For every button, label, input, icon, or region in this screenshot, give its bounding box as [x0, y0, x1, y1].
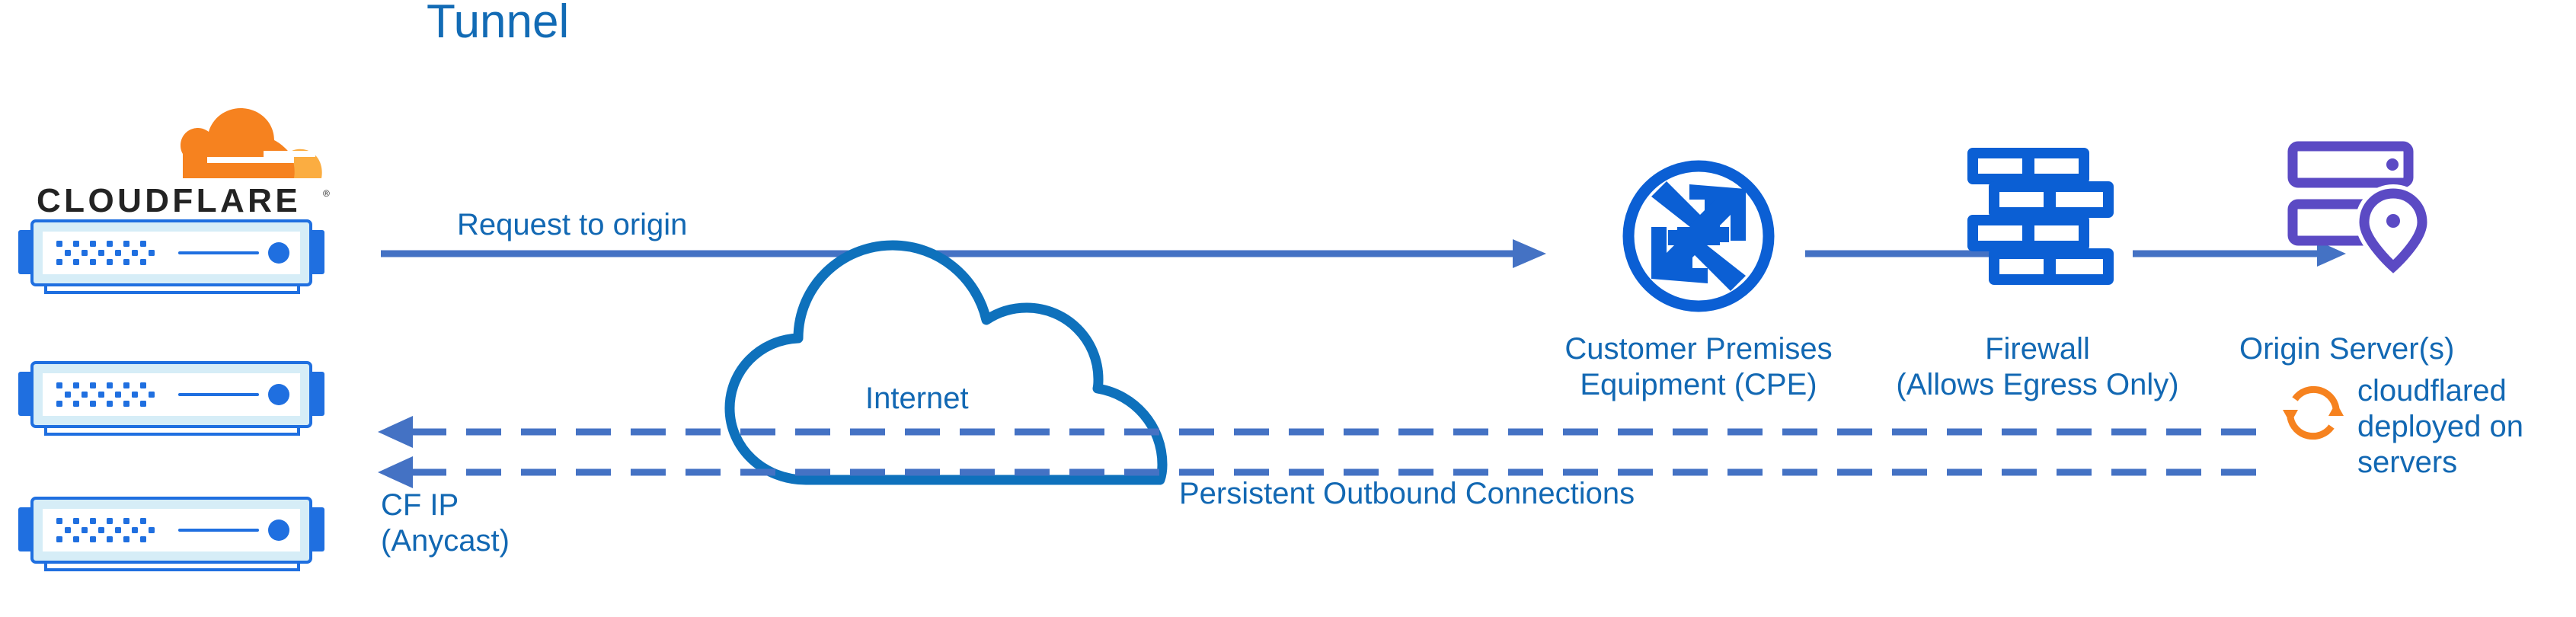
cloudflare-cloud-icon: [180, 105, 323, 181]
cloudflared-label: cloudflared deployed on servers: [2357, 373, 2576, 481]
origin-server-label: Origin Server(s): [2239, 331, 2574, 367]
sync-refresh-circular-arrows-icon: [2280, 379, 2347, 446]
persistent-outbound-connections-label: Persistent Outbound Connections: [1179, 476, 1635, 512]
cloudflare-wordmark: CLOUDFLARE ®: [37, 181, 335, 219]
svg-text:®: ®: [323, 188, 330, 199]
svg-text:CLOUDFLARE: CLOUDFLARE: [37, 182, 301, 219]
brick-wall-icon: [1961, 143, 2114, 296]
cf-ip-anycast-label: CF IP (Anycast): [381, 488, 510, 559]
diagram-title: Tunnel: [427, 0, 569, 50]
cpe-label: Customer Premises Equipment (CPE): [1516, 331, 1881, 403]
firewall-label: Firewall (Allows Egress Only): [1858, 331, 2216, 403]
cloudflare-edge-server: [8, 216, 335, 300]
server-location-pin-icon: [2277, 137, 2460, 289]
cloudflare-edge-server: [8, 358, 335, 442]
tunnel-architecture-diagram: Tunnel CLOUDFLARE ®: [0, 0, 2576, 617]
cloudflare-logo: CLOUDFLARE ®: [15, 105, 335, 219]
persistent-outbound-upper-arrow: [378, 416, 2270, 448]
cloudflare-edge-server: [8, 494, 335, 577]
bidirectional-arrows-circle-icon: [1615, 152, 1782, 320]
